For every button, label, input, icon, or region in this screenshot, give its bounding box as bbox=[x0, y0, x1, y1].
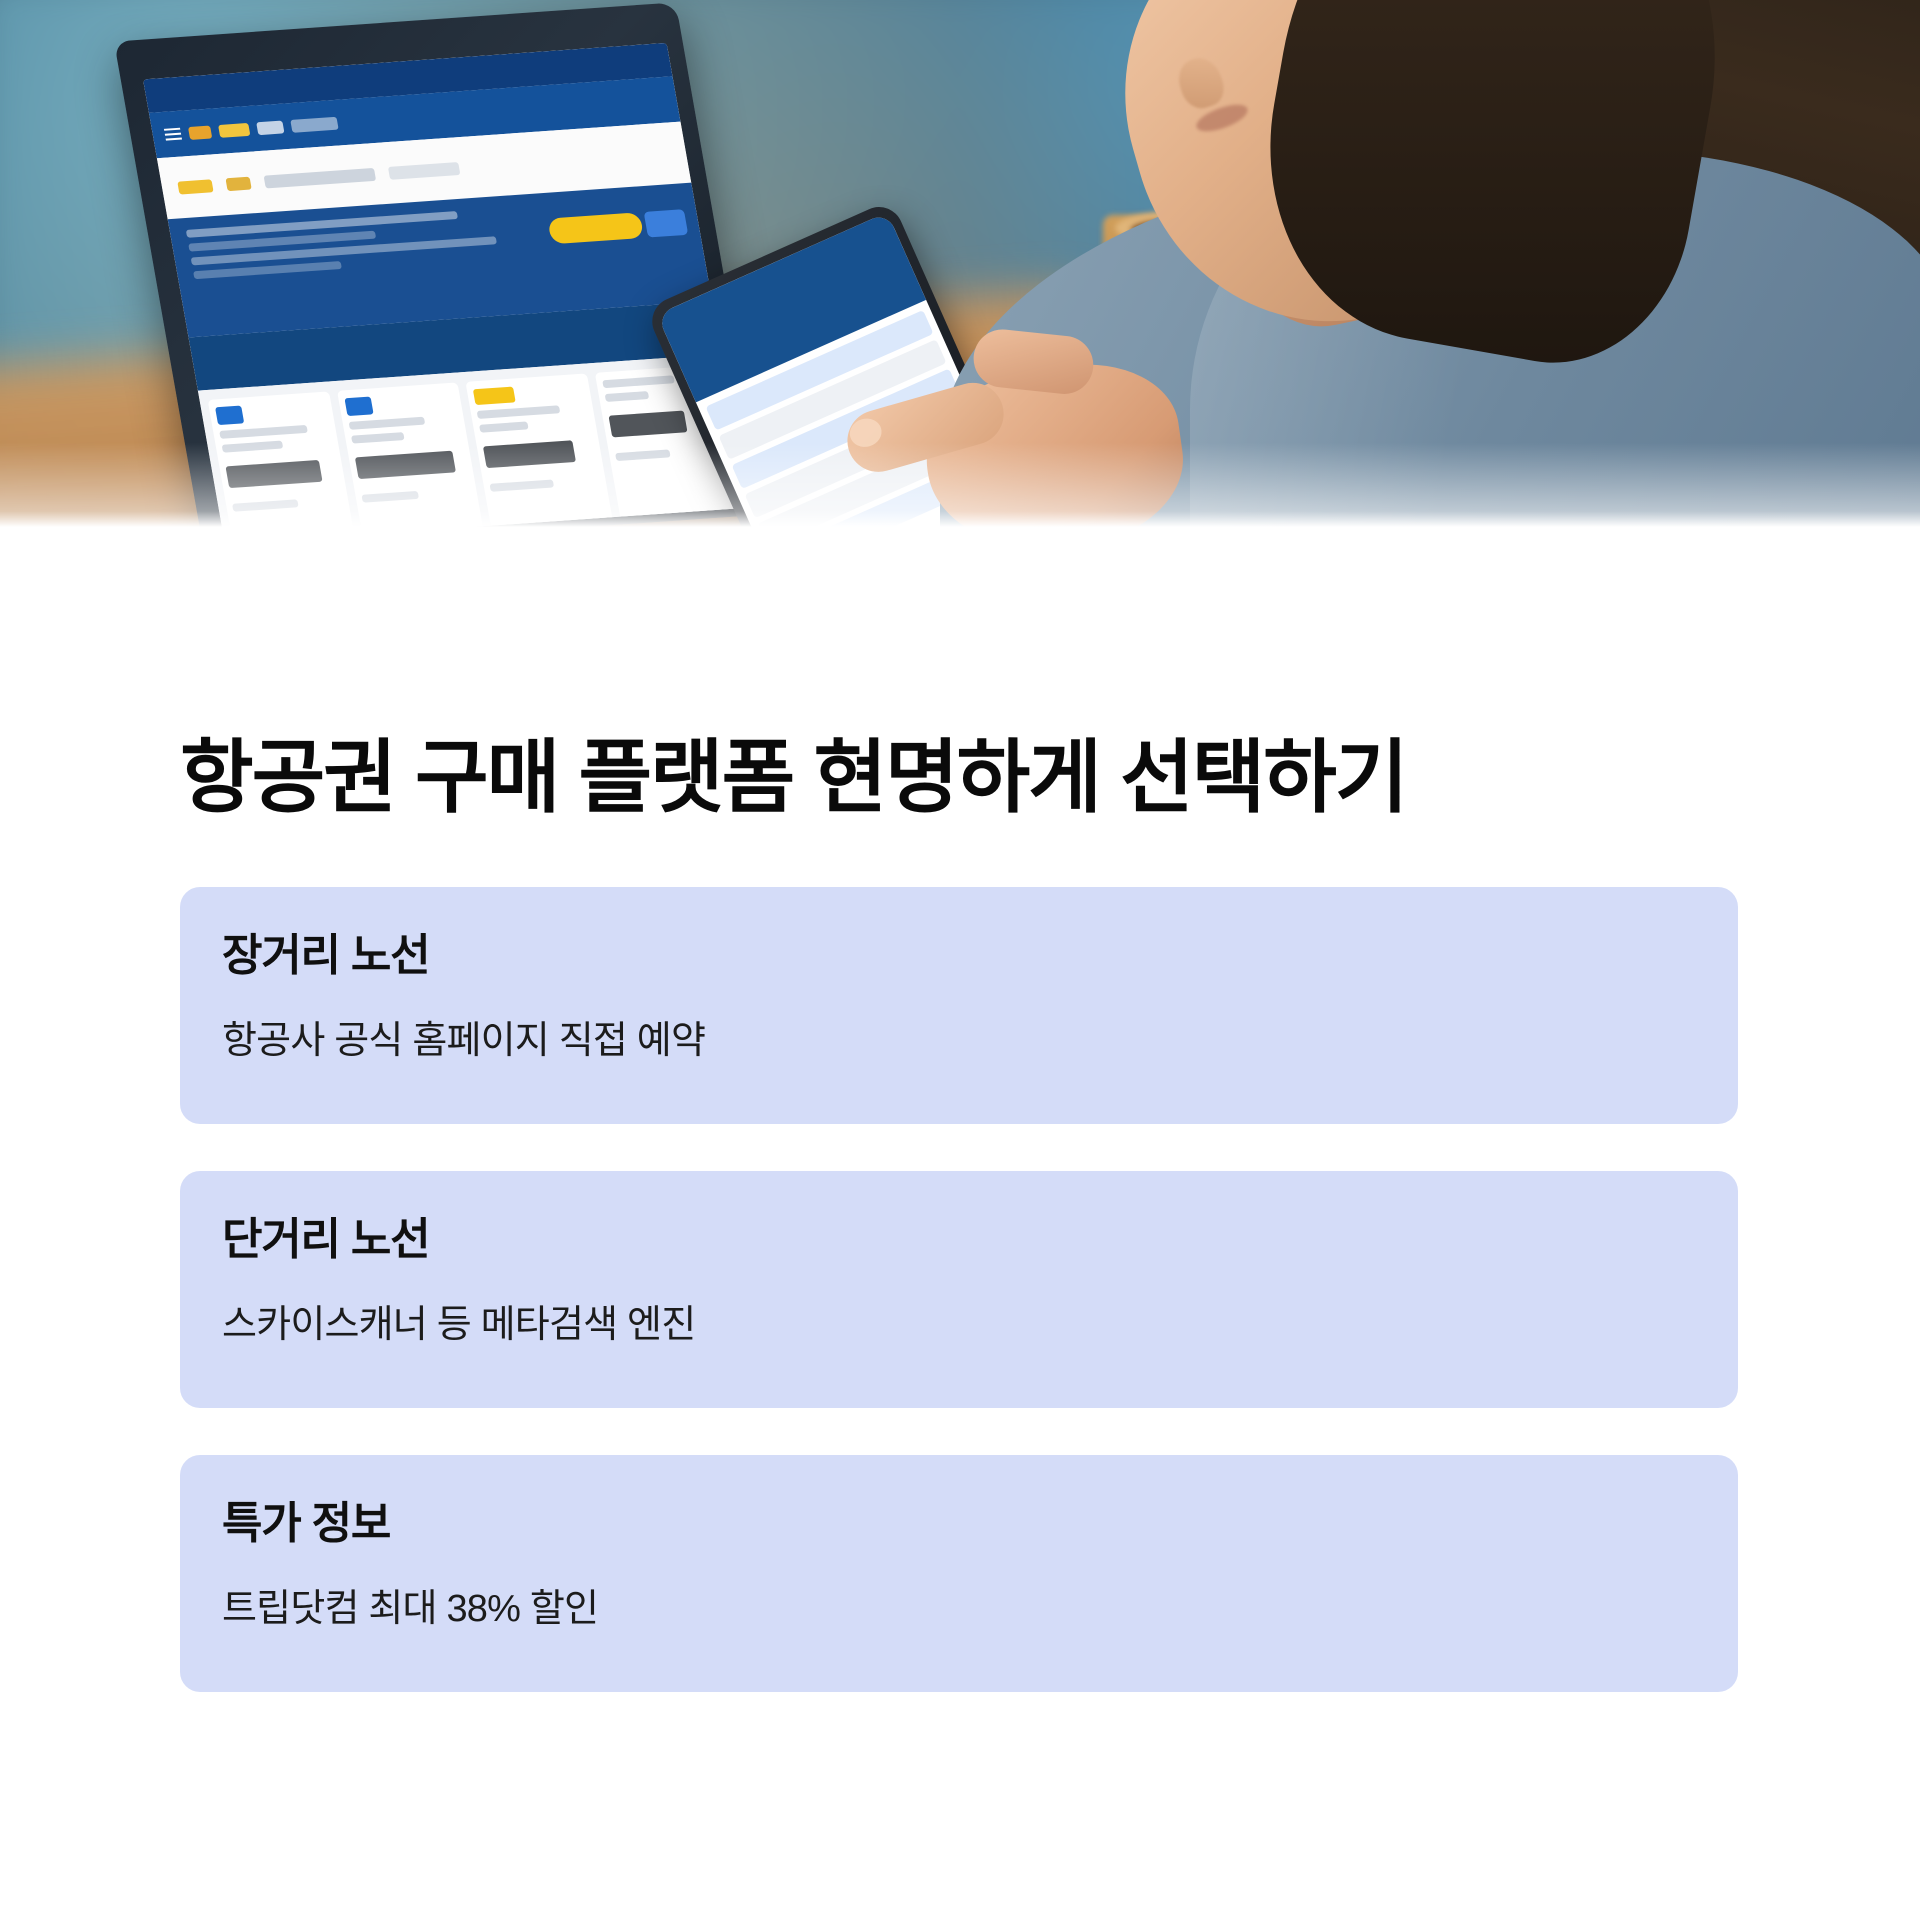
nav-chip bbox=[218, 122, 250, 137]
info-card[interactable]: 장거리 노선 항공사 공식 홈페이지 직접 예약 bbox=[180, 887, 1738, 1124]
info-card-title: 특가 정보 bbox=[222, 1502, 1738, 1546]
hero-image bbox=[0, 0, 1920, 527]
content-section: 항공권 구매 플랫폼 현명하게 선택하기 장거리 노선 항공사 공식 홈페이지 … bbox=[0, 527, 1920, 1692]
filter-chip bbox=[263, 167, 376, 188]
laptop-search-button bbox=[547, 212, 644, 244]
page-title: 항공권 구매 플랫폼 현명하게 선택하기 bbox=[180, 735, 1740, 821]
info-card[interactable]: 단거리 노선 스카이스캐너 등 메타검색 엔진 bbox=[180, 1171, 1738, 1408]
info-card-description: 항공사 공식 홈페이지 직접 예약 bbox=[222, 1022, 1738, 1060]
nav-chip bbox=[290, 116, 338, 132]
nav-chip bbox=[188, 125, 212, 139]
filter-chip bbox=[388, 162, 460, 180]
hamburger-menu-icon bbox=[164, 128, 182, 141]
laptop-result-card bbox=[208, 391, 362, 527]
info-card-description: 트립닷컴 최대 38% 할인 bbox=[222, 1590, 1738, 1628]
filter-chip bbox=[177, 179, 213, 194]
info-card-description: 스카이스캐너 등 메타검색 엔진 bbox=[222, 1306, 1738, 1344]
info-card-title: 단거리 노선 bbox=[222, 1218, 1738, 1262]
nav-chip bbox=[256, 120, 284, 135]
laptop-result-card bbox=[337, 382, 491, 527]
laptop-screen bbox=[143, 43, 749, 527]
info-card-title: 장거리 노선 bbox=[222, 934, 1738, 978]
filter-chip bbox=[225, 176, 251, 190]
laptop-result-card bbox=[465, 373, 619, 527]
info-card[interactable]: 특가 정보 트립닷컴 최대 38% 할인 bbox=[180, 1455, 1738, 1692]
laptop-device bbox=[114, 2, 766, 527]
page-root: 항공권 구매 플랫폼 현명하게 선택하기 장거리 노선 항공사 공식 홈페이지 … bbox=[0, 0, 1920, 1920]
info-card-list: 장거리 노선 항공사 공식 홈페이지 직접 예약 단거리 노선 스카이스캐너 등… bbox=[180, 887, 1740, 1692]
laptop-secondary-button bbox=[644, 209, 689, 237]
